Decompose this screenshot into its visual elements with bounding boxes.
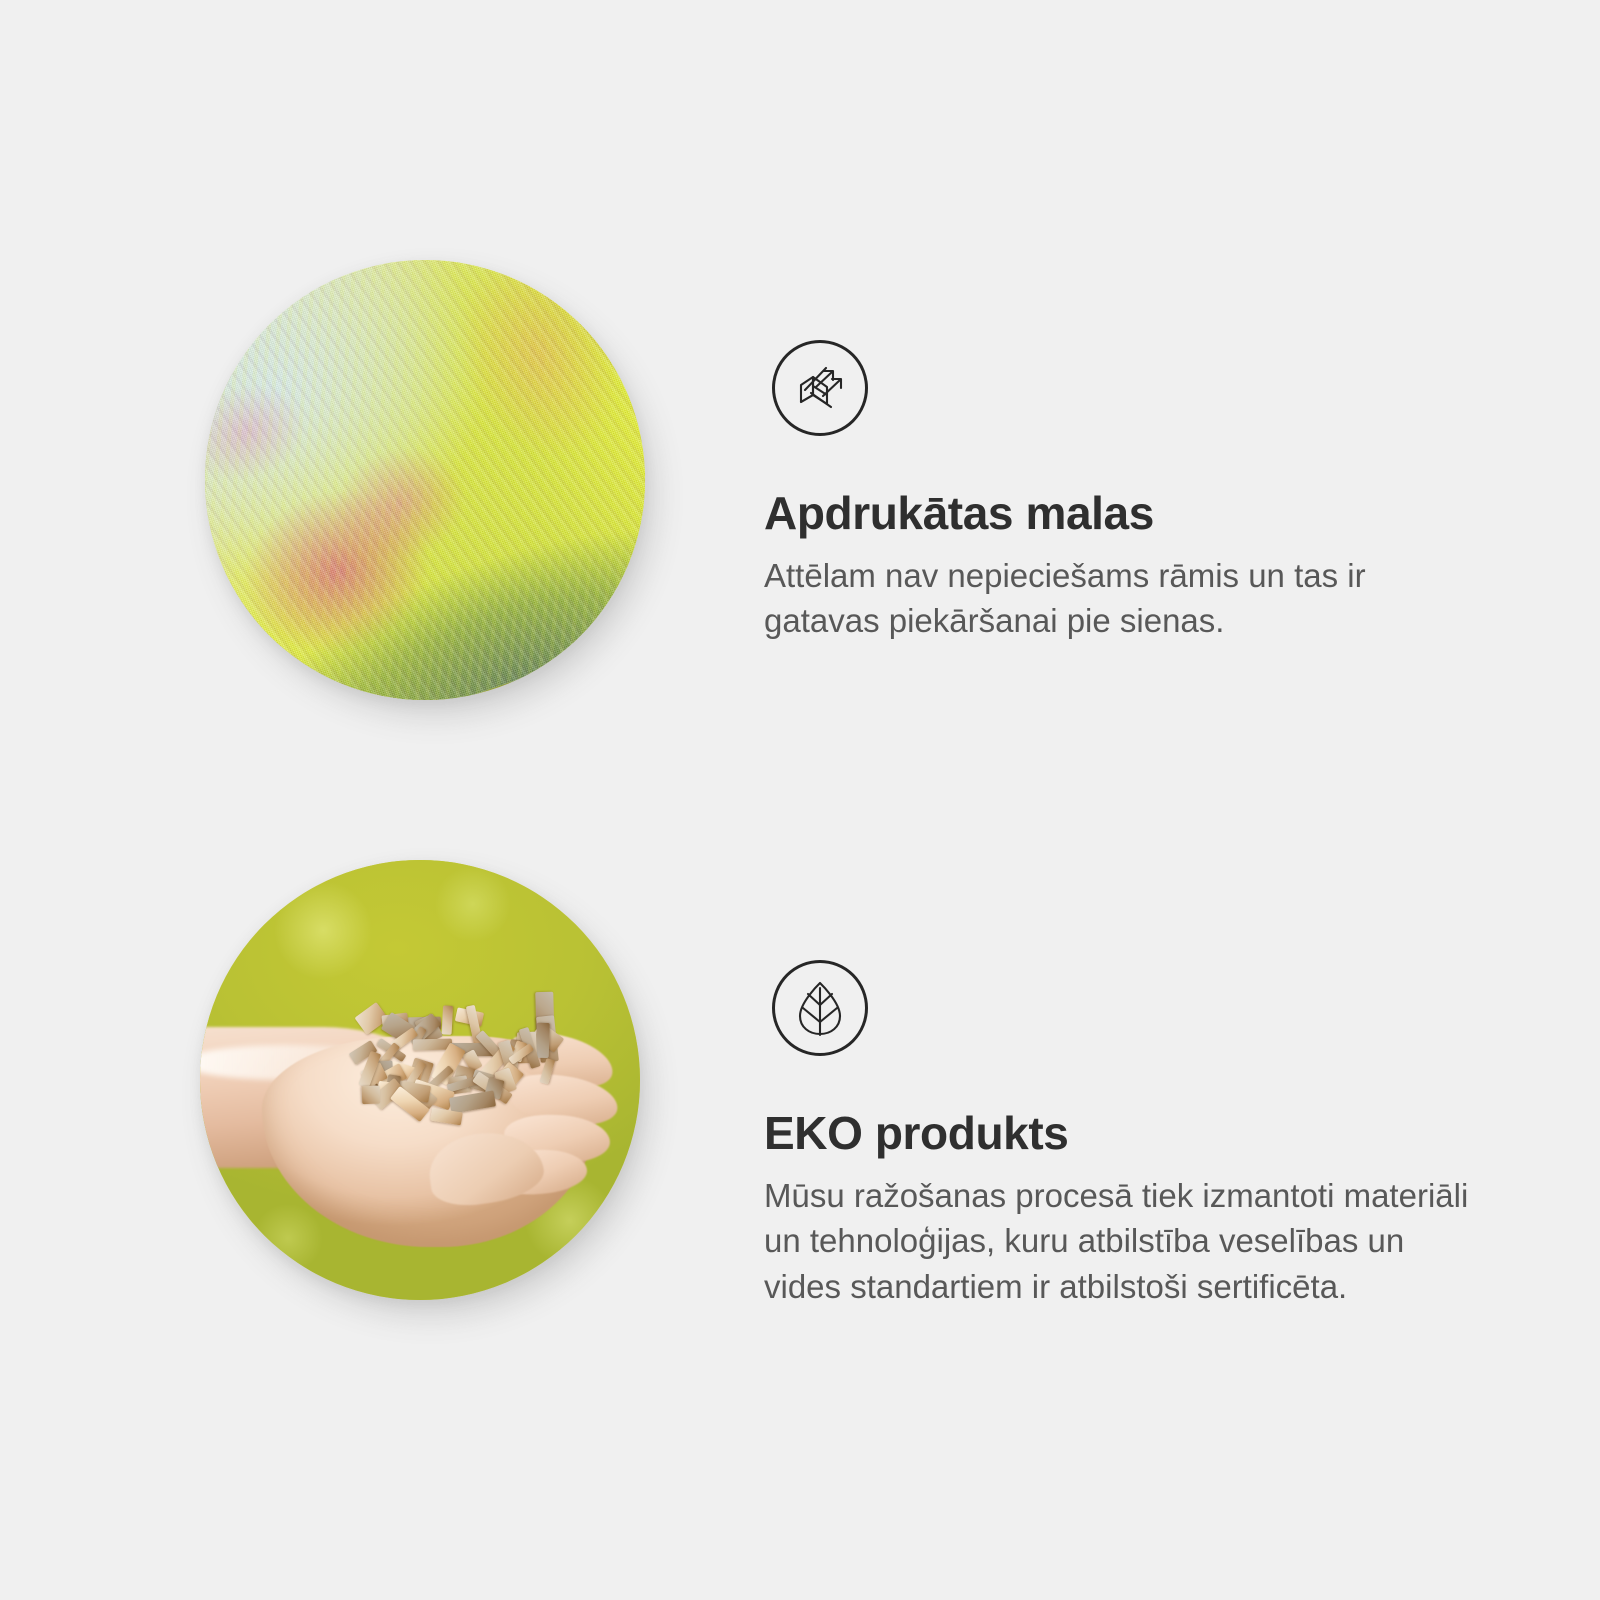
wood-chip-pile — [319, 988, 565, 1138]
feature-text-column: Apdrukātas malas Attēlam nav nepieciešam… — [764, 340, 1504, 644]
product-features-page: Apdrukātas malas Attēlam nav nepieciešam… — [0, 0, 1600, 1600]
wood-chip — [449, 1091, 496, 1114]
feature-title: Apdrukātas malas — [764, 488, 1504, 539]
eco-scene — [200, 860, 640, 1300]
wood-chip — [362, 1085, 380, 1104]
printed-edges-icon — [772, 340, 868, 436]
leaf-glyph — [792, 978, 848, 1038]
media-circle — [200, 860, 640, 1300]
wood-chip — [536, 1023, 550, 1058]
leaf-icon — [772, 960, 868, 1056]
feature-text-column: EKO produkts Mūsu ražošanas procesā tiek… — [764, 960, 1504, 1309]
feature-description: Mūsu ražošanas procesā tiek izmantoti ma… — [764, 1173, 1476, 1310]
wood-chip — [442, 1005, 454, 1034]
feature-block-eko-product: EKO produkts Mūsu ražošanas procesā tiek… — [0, 800, 1600, 1600]
canvas-scene — [205, 260, 645, 700]
wood-chips-in-hands-photo — [200, 860, 640, 1300]
canvas-printed-face — [205, 260, 645, 700]
canvas-print-corner-photo — [205, 260, 645, 700]
feature-block-printed-edges: Apdrukātas malas Attēlam nav nepieciešam… — [0, 0, 1600, 800]
feature-description: Attēlam nav nepieciešams rāmis un tas ir… — [764, 553, 1476, 644]
media-circle — [205, 260, 645, 700]
feature-title: EKO produkts — [764, 1108, 1504, 1159]
printed-edges-glyph — [791, 359, 849, 417]
